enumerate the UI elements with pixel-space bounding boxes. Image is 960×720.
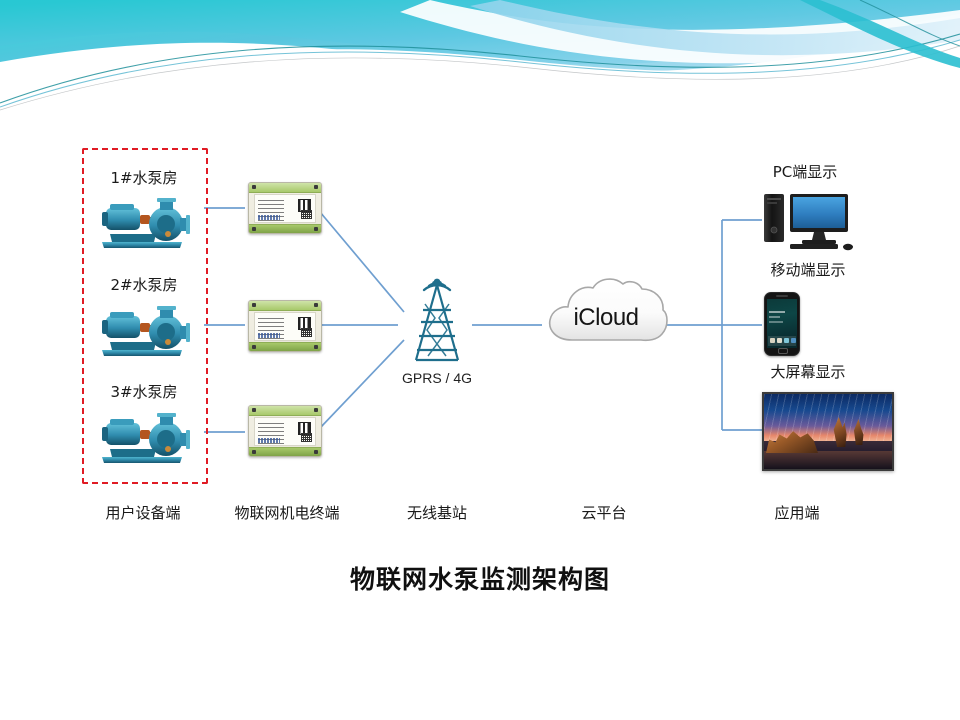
terminal-brand-mark bbox=[258, 215, 280, 220]
architecture-diagram: 1#水泵房 bbox=[0, 112, 960, 552]
stage-label-cloud-platform: 云平台 bbox=[548, 502, 660, 523]
large-display-icon bbox=[762, 392, 894, 471]
display-star-trails bbox=[764, 394, 892, 441]
terminal-top-strip bbox=[249, 406, 321, 416]
terminal-screw bbox=[252, 227, 256, 231]
water-pump-icon bbox=[96, 304, 192, 360]
terminal-brand-mark bbox=[258, 438, 280, 443]
terminal-bottom-strip bbox=[249, 224, 321, 233]
barcode-icon bbox=[301, 210, 312, 219]
terminal-screw bbox=[314, 345, 318, 349]
stage-label-iot-terminal: 物联网机电终端 bbox=[214, 502, 360, 523]
page-title: 物联网水泵监测架构图 bbox=[0, 560, 960, 596]
terminal-spec-label bbox=[254, 194, 316, 223]
application-pc-label: PC端显示 bbox=[740, 164, 870, 181]
iot-terminal-device-1[interactable] bbox=[248, 182, 322, 234]
terminal-top-strip bbox=[249, 183, 321, 193]
base-station-tech-label: GPRS / 4G bbox=[380, 370, 494, 386]
terminal-screw bbox=[314, 185, 318, 189]
terminal-screw bbox=[252, 450, 256, 454]
terminal-spec-label bbox=[254, 312, 316, 341]
phone-widget-line bbox=[769, 311, 785, 313]
phone-widget-line bbox=[769, 321, 783, 323]
iot-terminal-device-2[interactable] bbox=[248, 300, 322, 352]
terminal-screw bbox=[252, 345, 256, 349]
phone-home-button bbox=[778, 348, 788, 354]
barcode-icon bbox=[301, 433, 312, 442]
stage-label-user-equipment: 用户设备端 bbox=[86, 502, 200, 523]
desktop-computer-icon bbox=[762, 190, 858, 252]
phone-dock bbox=[768, 336, 796, 346]
display-reflection bbox=[764, 451, 892, 469]
terminal-screw bbox=[252, 408, 256, 412]
terminal-screw bbox=[252, 303, 256, 307]
decorative-header-ribbon bbox=[0, 0, 960, 112]
terminal-brand-mark bbox=[258, 333, 280, 338]
water-pump-icon bbox=[96, 411, 192, 467]
application-bigscreen-label: 大屏幕显示 bbox=[740, 364, 876, 381]
iot-terminal-device-3[interactable] bbox=[248, 405, 322, 457]
terminal-top-strip bbox=[249, 301, 321, 311]
terminal-screw bbox=[252, 185, 256, 189]
phone-speaker bbox=[776, 295, 788, 297]
water-pump-icon bbox=[96, 196, 192, 252]
phone-widget-line bbox=[769, 316, 780, 318]
application-mobile-label: 移动端显示 bbox=[740, 262, 876, 279]
terminal-screw bbox=[314, 303, 318, 307]
pump-station-3-label: 3#水泵房 bbox=[90, 384, 198, 401]
cloud-platform-text: iCloud bbox=[540, 304, 672, 332]
terminal-screw bbox=[314, 450, 318, 454]
phone-screen bbox=[767, 299, 797, 348]
slide-canvas: 1#水泵房 bbox=[0, 0, 960, 720]
terminal-bottom-strip bbox=[249, 342, 321, 351]
terminal-screw bbox=[314, 408, 318, 412]
terminal-bottom-strip bbox=[249, 447, 321, 456]
barcode-icon bbox=[301, 328, 312, 337]
pump-station-1-label: 1#水泵房 bbox=[90, 170, 198, 187]
terminal-spec-label bbox=[254, 417, 316, 446]
stage-label-base-station: 无线基站 bbox=[381, 502, 493, 523]
cell-tower-icon bbox=[394, 260, 480, 368]
pump-station-2-label: 2#水泵房 bbox=[90, 277, 198, 294]
stage-label-application: 应用端 bbox=[741, 502, 853, 523]
smartphone-icon bbox=[764, 292, 800, 356]
terminal-screw bbox=[314, 227, 318, 231]
